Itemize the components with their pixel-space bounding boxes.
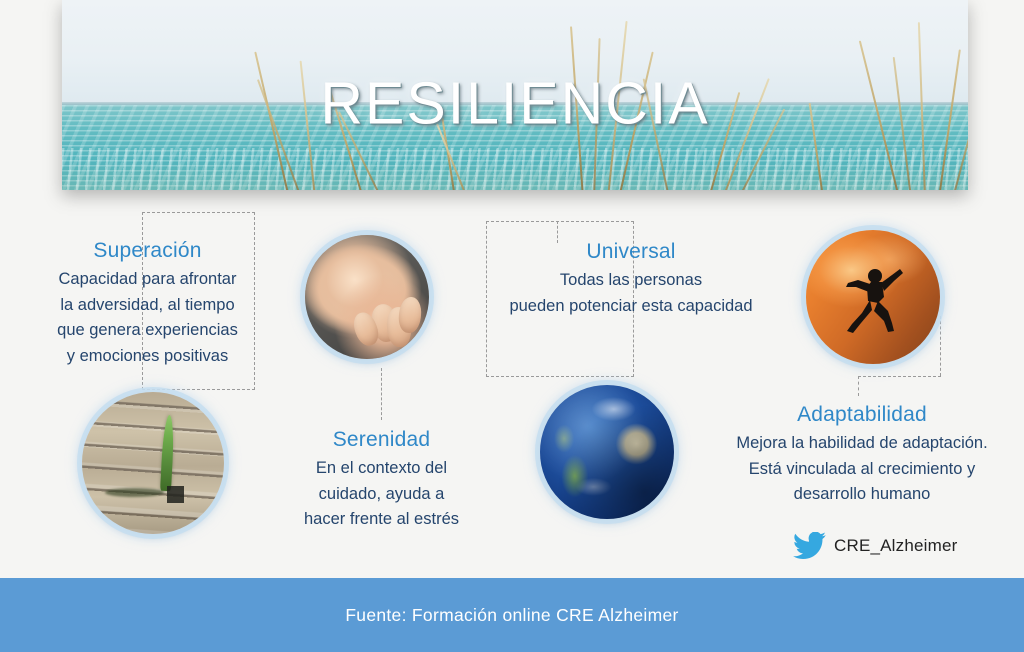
- photo-image: [540, 385, 674, 519]
- connector-stub-adaptabilidad: [858, 376, 859, 396]
- photo-jumping-silhouette: [806, 230, 940, 364]
- block-heading-superacion: Superación: [30, 239, 265, 263]
- connector-line-adaptabilidad-horizontal: [858, 376, 941, 377]
- block-heading-adaptabilidad: Adaptabilidad: [700, 403, 1024, 427]
- block-body-serenidad: En el contexto del cuidado, ayuda a hace…: [279, 456, 484, 533]
- block-heading-universal: Universal: [492, 240, 770, 264]
- connector-line-serenidad: [381, 368, 382, 420]
- jumping-person-icon: [834, 263, 912, 337]
- block-heading-serenidad: Serenidad: [279, 428, 484, 452]
- block-body-adaptabilidad: Mejora la habilidad de adaptación. Está …: [700, 431, 1024, 508]
- photo-earth-globe: [540, 385, 674, 519]
- header-banner: RESILIENCIA: [62, 0, 968, 190]
- social-handle[interactable]: CRE_Alzheimer: [793, 532, 958, 559]
- block-universal: Universal Todas las personas pueden pote…: [492, 240, 770, 319]
- social-handle-text: CRE_Alzheimer: [834, 536, 958, 556]
- connector-line-adaptabilidad-vertical: [940, 316, 941, 376]
- block-body-universal: Todas las personas pueden potenciar esta…: [492, 268, 770, 319]
- footer-source-text: Fuente: Formación online CRE Alzheimer: [345, 605, 678, 626]
- photo-elderly-hands: [305, 235, 429, 359]
- banner-foam: [62, 148, 968, 190]
- block-superacion: Superación Capacidad para afrontar la ad…: [30, 239, 265, 369]
- block-body-superacion: Capacidad para afrontar la adversidad, a…: [30, 267, 265, 369]
- block-adaptabilidad: Adaptabilidad Mejora la habilidad de ada…: [700, 403, 1024, 508]
- infographic-canvas: RESILIENCIA: [0, 0, 1024, 652]
- photo-sprout-on-deck: [82, 392, 224, 534]
- page-title: RESILIENCIA: [62, 75, 968, 134]
- photo-image: [305, 235, 429, 359]
- twitter-icon[interactable]: [793, 532, 826, 559]
- block-serenidad: Serenidad En el contexto del cuidado, ay…: [279, 428, 484, 533]
- photo-image: [806, 230, 940, 364]
- photo-image: [82, 392, 224, 534]
- footer-bar: Fuente: Formación online CRE Alzheimer: [0, 578, 1024, 652]
